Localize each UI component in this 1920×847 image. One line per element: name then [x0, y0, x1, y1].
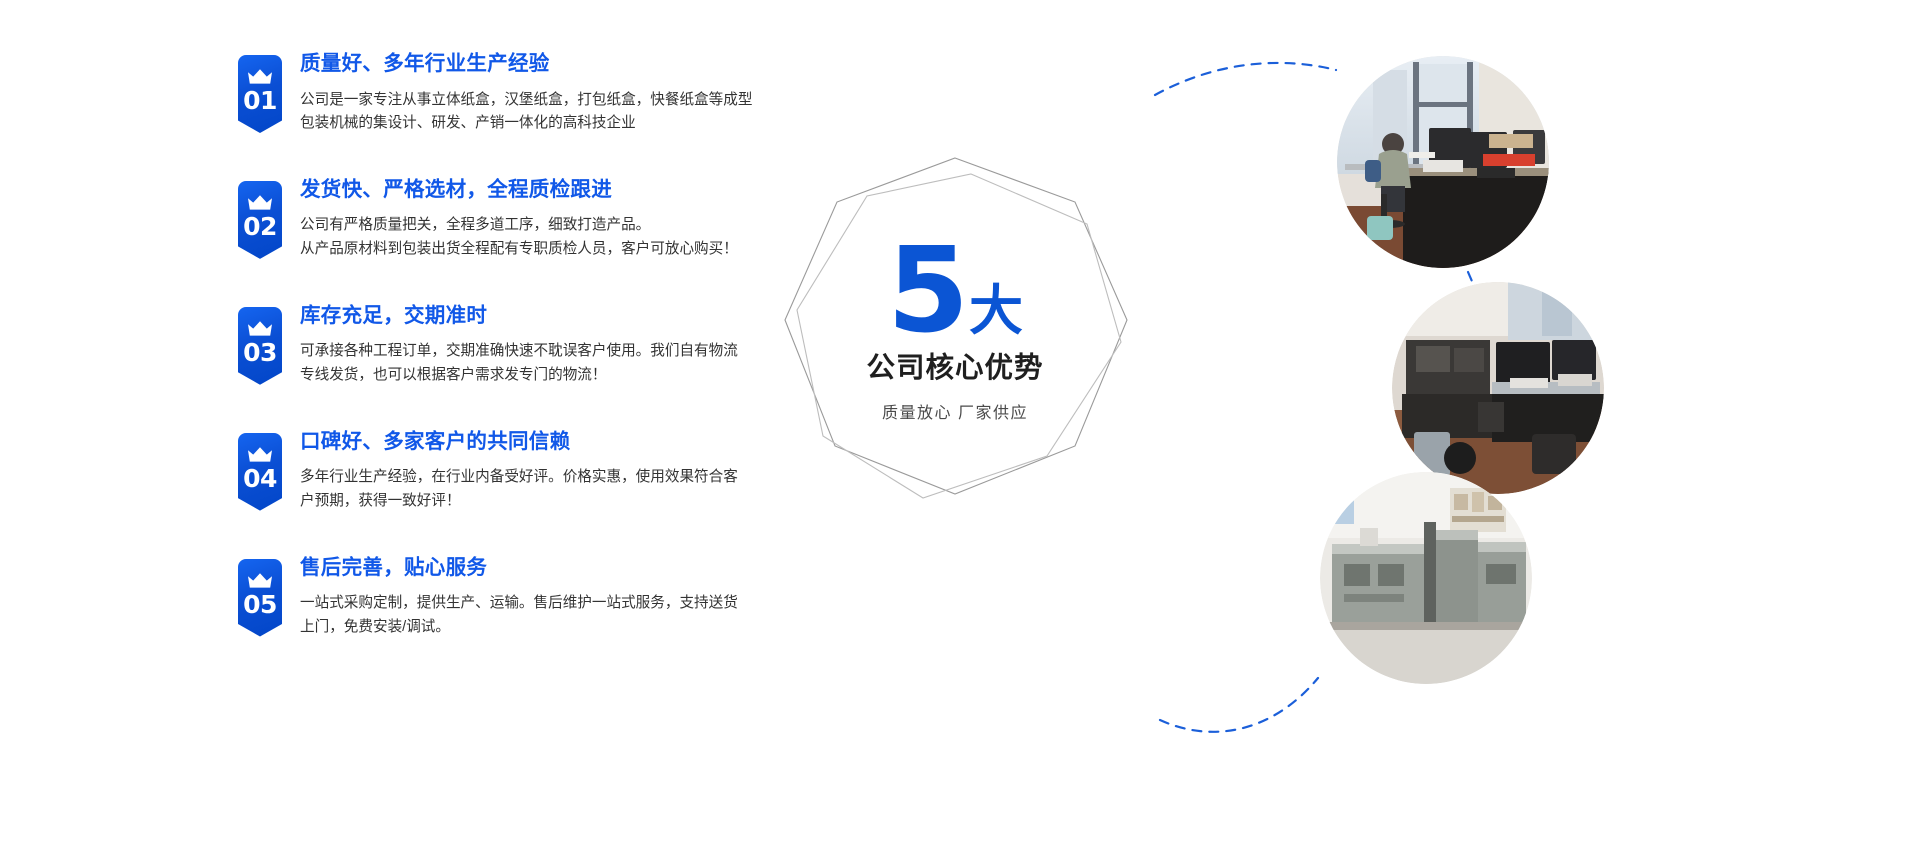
advantage-text: 质量好、多年行业生产经验 公司是一家专注从事立体纸盒，汉堡纸盒，打包纸盒，快餐纸…: [300, 52, 778, 136]
advantage-desc-line: 多年行业生产经验，在行业内备受好评。价格实惠，使用效果符合客: [300, 466, 770, 490]
photo-office-top: [1337, 56, 1549, 268]
advantage-item-05: 05 售后完善，贴心服务 一站式采购定制，提供生产、运输。售后维护一站式服务，支…: [238, 556, 778, 640]
advantage-desc-line: 公司有严格质量把关，全程多道工序，细致打造产品。: [300, 214, 770, 238]
advantages-section: 01 质量好、多年行业生产经验 公司是一家专注从事立体纸盒，汉堡纸盒，打包纸盒，…: [0, 0, 1920, 847]
crown-icon: [247, 446, 273, 463]
photo-office-middle: [1392, 282, 1604, 494]
advantage-list: 01 质量好、多年行业生产经验 公司是一家专注从事立体纸盒，汉堡纸盒，打包纸盒，…: [238, 52, 778, 639]
advantage-number: 04: [238, 466, 282, 491]
advantage-description: 公司是一家专注从事立体纸盒，汉堡纸盒，打包纸盒，快餐纸盒等成型 包装机械的集设计…: [300, 89, 770, 136]
emblem-number: 5: [887, 237, 965, 343]
advantage-description: 可承接各种工程订单，交期准确快速不耽误客户使用。我们自有物流 专线发货，也可以根…: [300, 340, 770, 387]
advantage-number: 05: [238, 592, 282, 617]
crown-icon: [247, 320, 273, 337]
advantage-text: 口碑好、多家客户的共同信赖 多年行业生产经验，在行业内备受好评。价格实惠，使用效…: [300, 430, 778, 514]
emblem-unit: 大: [969, 287, 1023, 336]
advantage-item-03: 03 库存充足，交期准时 可承接各种工程订单，交期准确快速不耽误客户使用。我们自…: [238, 304, 778, 388]
emblem-main-title: 公司核心优势: [866, 345, 1043, 386]
advantage-desc-line: 公司是一家专注从事立体纸盒，汉堡纸盒，打包纸盒，快餐纸盒等成型: [300, 89, 770, 113]
advantage-description: 多年行业生产经验，在行业内备受好评。价格实惠，使用效果符合客 户预期，获得一致好…: [300, 466, 770, 513]
advantage-badge: 02: [238, 181, 282, 259]
connector-top: [1155, 63, 1336, 95]
advantage-desc-line: 户预期，获得一致好评！: [300, 490, 770, 514]
advantage-description: 一站式采购定制，提供生产、运输。售后维护一站式服务，支持送货 上门，免费安装/调…: [300, 592, 770, 639]
advantage-item-02: 02 发货快、严格选材，全程质检跟进 公司有严格质量把关，全程多道工序，细致打造…: [238, 178, 778, 262]
advantage-number: 01: [238, 88, 282, 113]
advantage-badge: 03: [238, 307, 282, 385]
advantage-desc-line: 一站式采购定制，提供生产、运输。售后维护一站式服务，支持送货: [300, 592, 770, 616]
advantage-desc-line: 专线发货，也可以根据客户需求发专门的物流！: [300, 364, 770, 388]
photo-factory-bottom: [1320, 472, 1532, 684]
advantage-badge: 04: [238, 433, 282, 511]
advantage-desc-line: 包装机械的集设计、研发、产销一体化的高科技企业: [300, 112, 770, 136]
advantage-title: 发货快、严格选材，全程质检跟进: [300, 178, 778, 203]
crown-icon: [247, 572, 273, 589]
advantage-text: 库存充足，交期准时 可承接各种工程订单，交期准确快速不耽误客户使用。我们自有物流…: [300, 304, 778, 388]
advantage-description: 公司有严格质量把关，全程多道工序，细致打造产品。 从产品原材料到包装出货全程配有…: [300, 214, 770, 261]
advantage-text: 售后完善，贴心服务 一站式采购定制，提供生产、运输。售后维护一站式服务，支持送货…: [300, 556, 778, 640]
advantage-desc-line: 上门，免费安装/调试。: [300, 616, 770, 640]
emblem-subtitle: 质量放心 厂家供应: [882, 399, 1028, 423]
emblem-headline: 5 大: [887, 237, 1023, 343]
advantage-badge: 05: [238, 559, 282, 637]
crown-icon: [247, 68, 273, 85]
advantage-badge: 01: [238, 55, 282, 133]
advantage-title: 质量好、多年行业生产经验: [300, 52, 778, 77]
advantage-title: 库存充足，交期准时: [300, 304, 778, 329]
crown-icon: [247, 194, 273, 211]
connector-bottom: [1160, 678, 1318, 732]
advantage-title: 售后完善，贴心服务: [300, 556, 778, 581]
advantage-text: 发货快、严格选材，全程质检跟进 公司有严格质量把关，全程多道工序，细致打造产品。…: [300, 178, 778, 262]
advantage-desc-line: 从产品原材料到包装出货全程配有专职质检人员，客户可放心购买！: [300, 238, 770, 262]
advantage-number: 02: [238, 214, 282, 239]
advantage-item-01: 01 质量好、多年行业生产经验 公司是一家专注从事立体纸盒，汉堡纸盒，打包纸盒，…: [238, 52, 778, 136]
advantage-desc-line: 可承接各种工程订单，交期准确快速不耽误客户使用。我们自有物流: [300, 340, 770, 364]
advantage-number: 03: [238, 340, 282, 365]
advantage-title: 口碑好、多家客户的共同信赖: [300, 430, 778, 455]
advantage-item-04: 04 口碑好、多家客户的共同信赖 多年行业生产经验，在行业内备受好评。价格实惠，…: [238, 430, 778, 514]
emblem-text-block: 5 大 公司核心优势 质量放心 厂家供应: [775, 150, 1135, 510]
